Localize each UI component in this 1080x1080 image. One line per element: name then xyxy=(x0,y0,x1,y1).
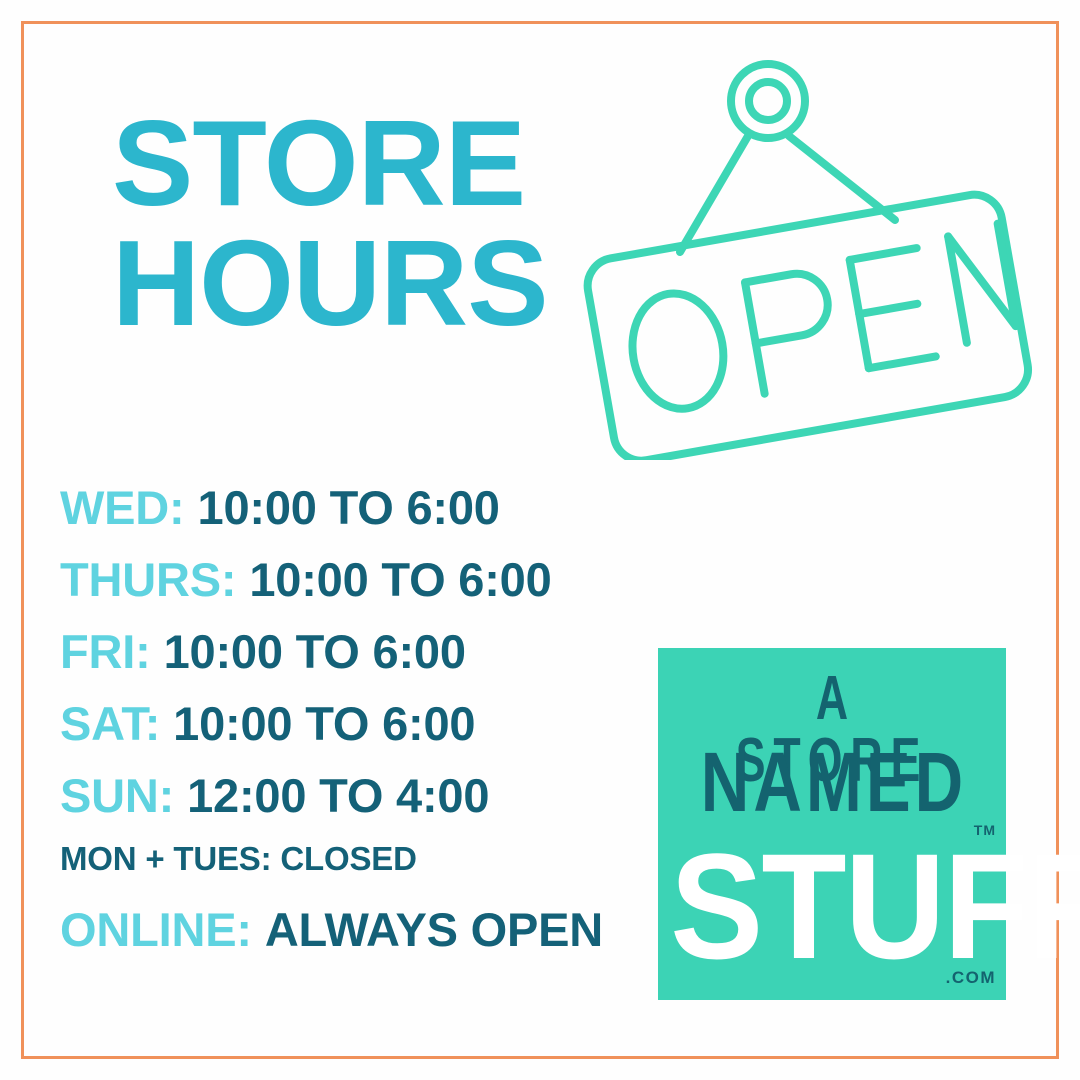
page-title: STORE HOURS xyxy=(112,104,632,343)
hours-time-value: 12:00 TO 4:00 xyxy=(187,768,489,823)
hook-inner-ring xyxy=(749,82,787,120)
hours-time-value: CLOSED xyxy=(280,840,416,878)
hours-day-label: WED: xyxy=(60,480,185,535)
hours-row-thurs: THURS: 10:00 TO 6:00 xyxy=(60,552,700,624)
page-title-line-2: HOURS xyxy=(112,224,632,344)
letter-p xyxy=(745,269,841,394)
hours-row-sat: SAT: 10:00 TO 6:00 xyxy=(60,696,700,768)
logo-wordmark: STUFF xyxy=(670,831,994,981)
brand-logo: A STORE NAMED TM STUFF .COM xyxy=(658,648,1006,1000)
hours-time-value: ALWAYS OPEN xyxy=(265,902,603,957)
hours-time-value: 10:00 TO 6:00 xyxy=(164,624,466,679)
hours-day-label: SAT: xyxy=(60,696,160,751)
letter-e xyxy=(850,248,936,368)
page-title-line-1: STORE xyxy=(112,104,632,224)
hours-list: WED: 10:00 TO 6:00 THURS: 10:00 TO 6:00 … xyxy=(60,480,700,974)
logo-line-2: NAMED xyxy=(693,740,971,824)
letter-o xyxy=(624,286,733,416)
hours-row-wed: WED: 10:00 TO 6:00 xyxy=(60,480,700,552)
open-sign-icon xyxy=(560,40,1060,460)
hours-day-label: ONLINE: xyxy=(60,902,252,957)
hook-outer-ring xyxy=(731,64,805,138)
hours-row-sun: SUN: 12:00 TO 4:00 xyxy=(60,768,700,840)
logo-domain: .COM xyxy=(946,968,996,988)
store-hours-poster: STORE HOURS xyxy=(0,0,1080,1080)
hours-row-fri: FRI: 10:00 TO 6:00 xyxy=(60,624,700,696)
hours-day-label: FRI: xyxy=(60,624,151,679)
hours-day-label: SUN: xyxy=(60,768,174,823)
hours-row-mon-tues: MON + TUES: CLOSED xyxy=(60,840,700,902)
hours-row-online: ONLINE: ALWAYS OPEN xyxy=(60,902,700,974)
hours-time-value: 10:00 TO 6:00 xyxy=(198,480,500,535)
hours-time-value: 10:00 TO 6:00 xyxy=(249,552,551,607)
hours-day-label: THURS: xyxy=(60,552,236,607)
hours-day-label: MON + TUES: xyxy=(60,840,271,878)
hours-time-value: 10:00 TO 6:00 xyxy=(173,696,475,751)
